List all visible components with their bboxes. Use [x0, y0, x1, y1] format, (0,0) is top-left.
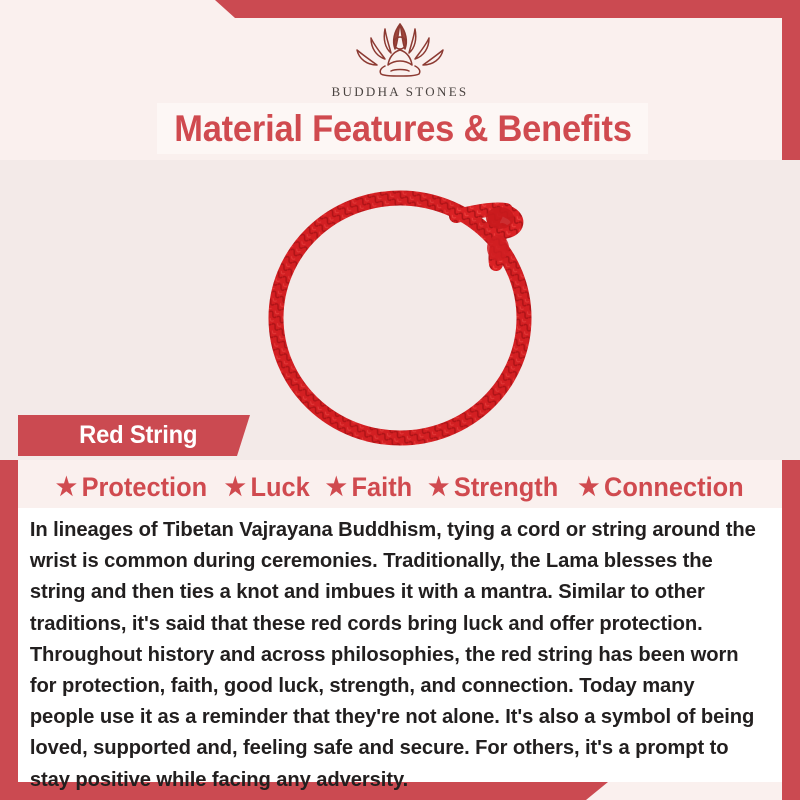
lotus-meditation-figure-icon	[325, 16, 475, 82]
description-card: In lineages of Tibetan Vajrayana Buddhis…	[18, 508, 782, 782]
benefit-label: Connection	[604, 472, 744, 503]
star-icon: ★	[429, 475, 450, 500]
benefit-item-faith: ★ Faith	[325, 472, 411, 503]
star-icon: ★	[225, 475, 246, 500]
brand-name: BUDDHA STONES	[332, 84, 469, 100]
material-name: Red String	[79, 421, 197, 450]
star-icon: ★	[56, 475, 77, 500]
benefit-label: Strength	[454, 472, 558, 503]
brand-logo: BUDDHA STONES	[0, 16, 800, 100]
benefit-item-strength: ★ Strength	[429, 472, 559, 503]
material-features-infographic: BUDDHA STONES Material Features & Benefi…	[0, 0, 800, 800]
benefit-label: Faith	[351, 472, 412, 503]
material-ribbon: Red String	[18, 415, 250, 456]
benefit-label: Protection	[82, 472, 208, 503]
page-title-band: Material Features & Benefits	[157, 103, 648, 154]
page-title: Material Features & Benefits	[174, 108, 632, 150]
star-icon: ★	[325, 475, 346, 500]
star-icon: ★	[578, 475, 599, 500]
benefit-item-luck: ★ Luck	[225, 472, 310, 503]
description-text: In lineages of Tibetan Vajrayana Buddhis…	[18, 508, 771, 795]
benefit-label: Luck	[251, 472, 310, 503]
red-string-bracelet-icon	[260, 168, 550, 458]
benefit-item-protection: ★ Protection	[56, 472, 207, 503]
benefit-item-connection: ★ Connection	[578, 472, 743, 503]
benefits-list: ★ Protection ★ Luck ★ Faith ★ Strength ★…	[18, 466, 782, 508]
